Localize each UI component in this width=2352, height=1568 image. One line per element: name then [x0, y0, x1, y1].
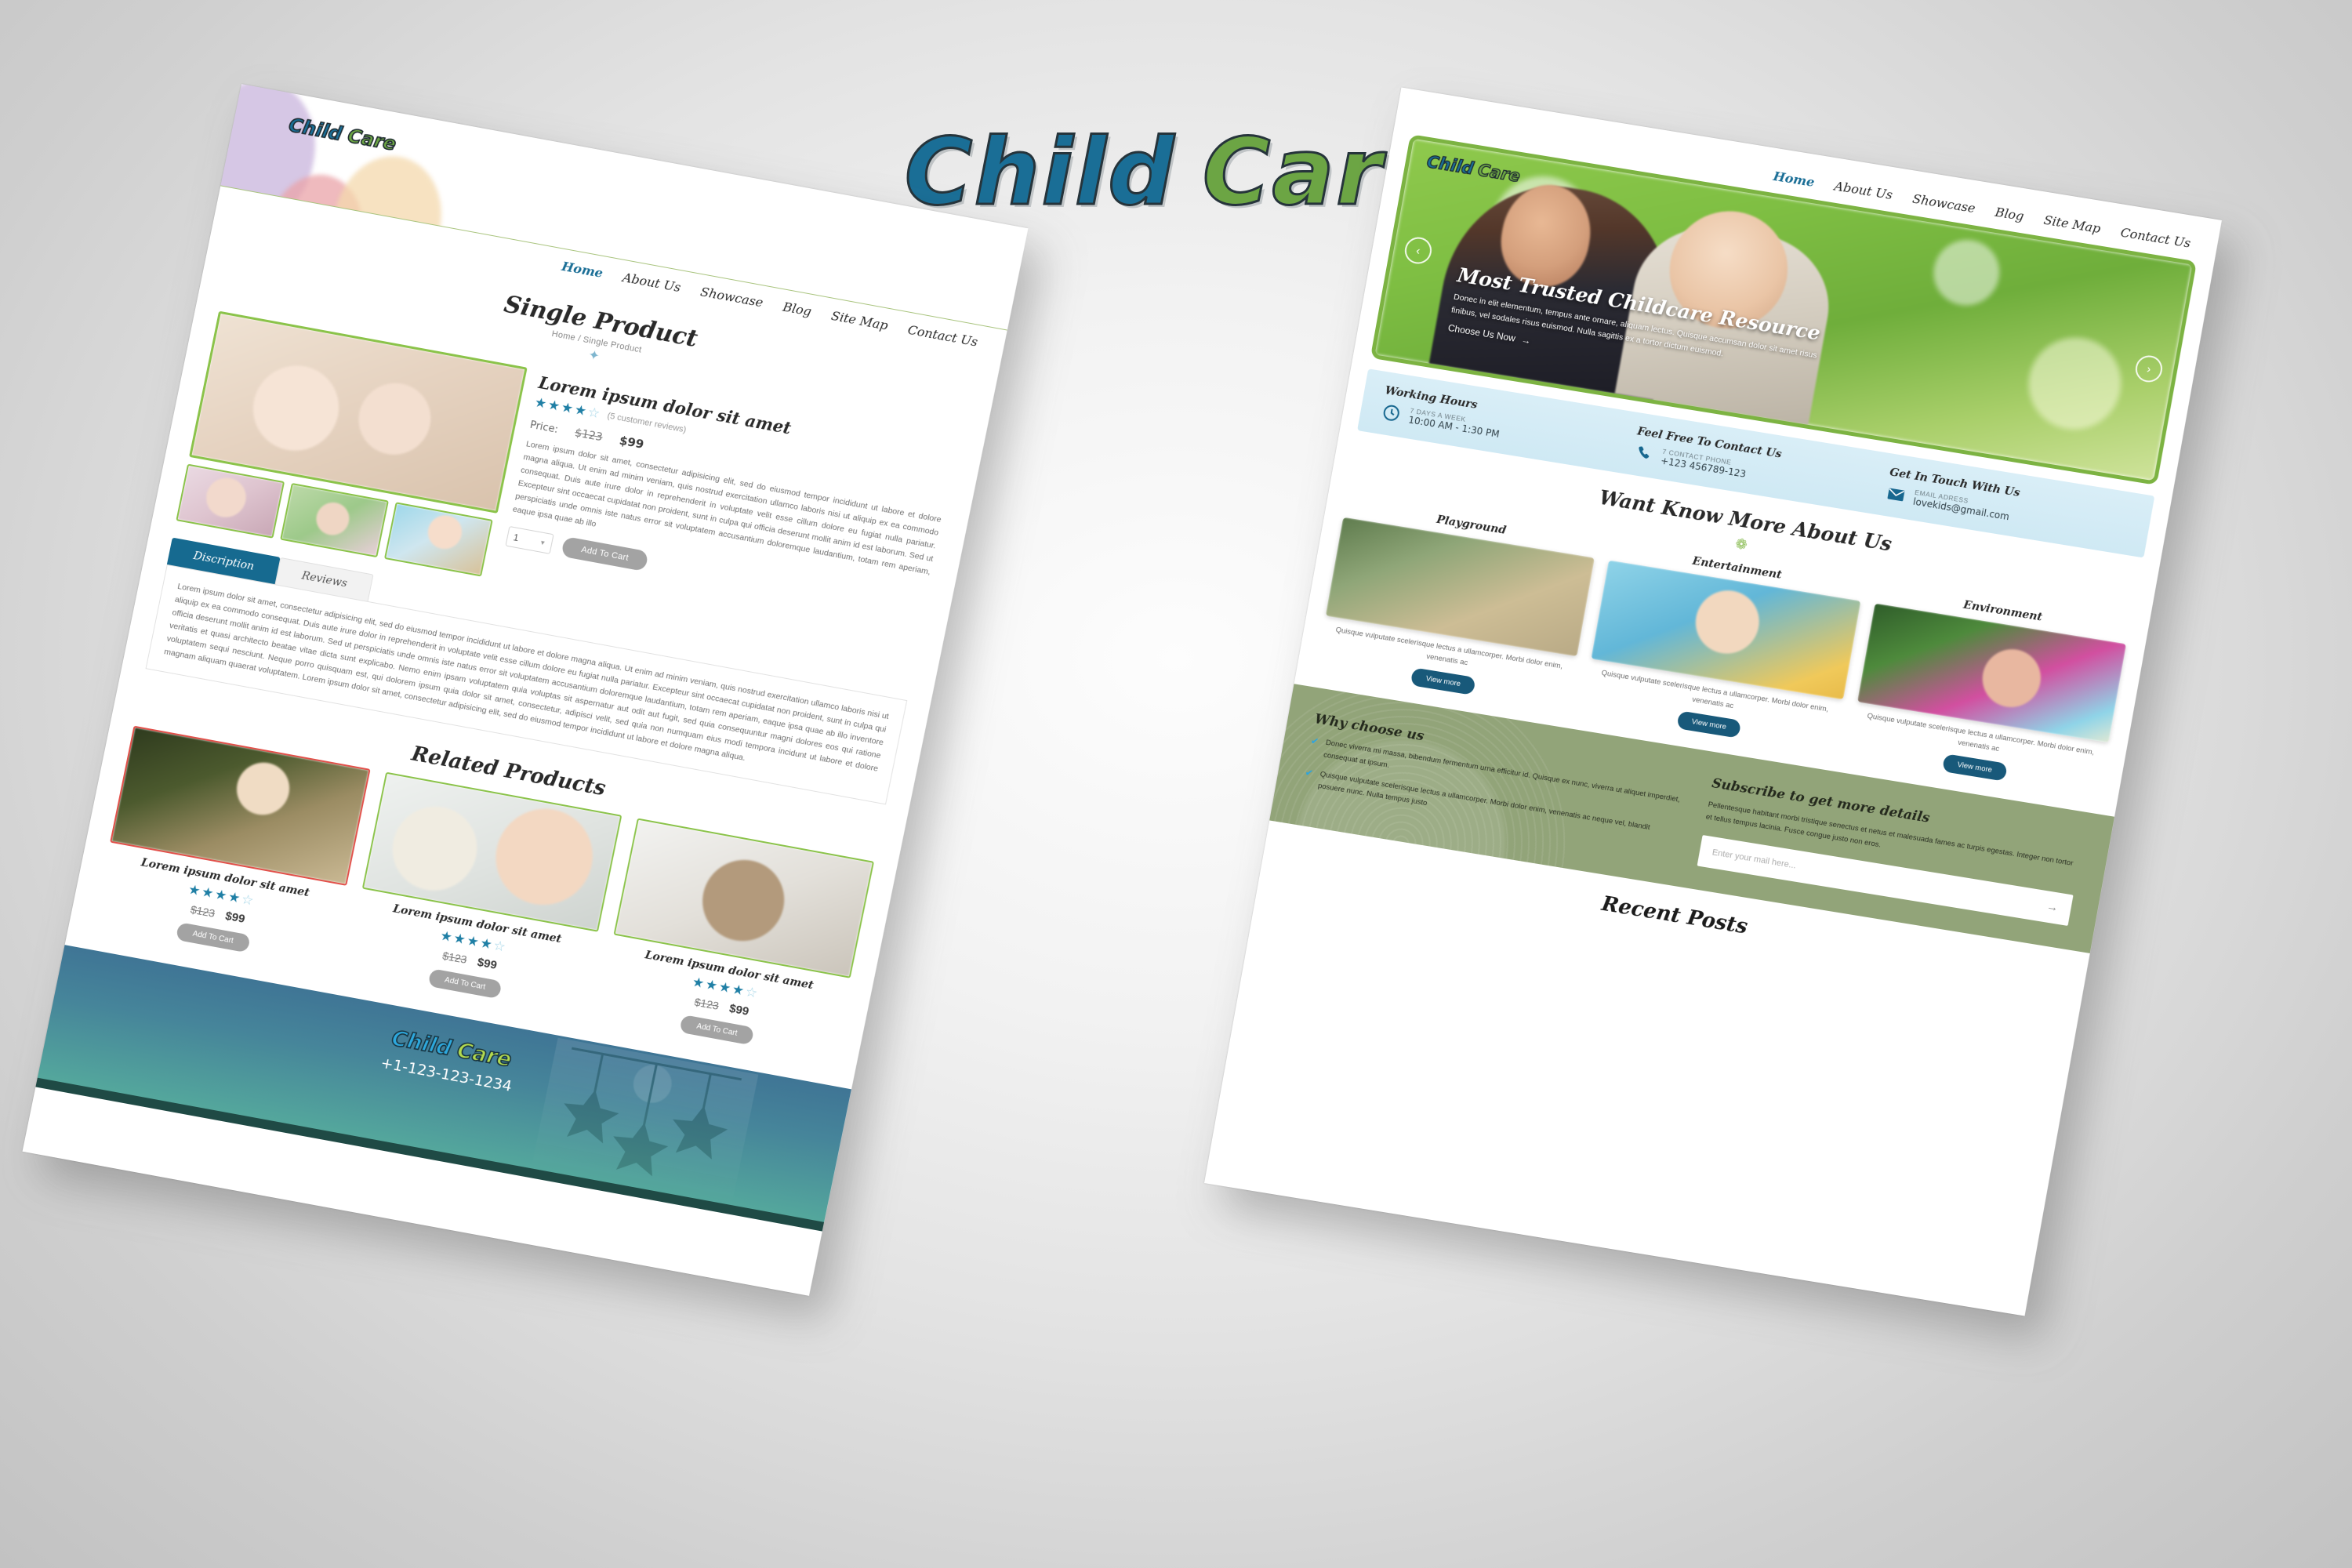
footer-logo-word-child: Child [390, 1026, 454, 1061]
new-price: $99 [728, 1002, 750, 1018]
nav-item-about-us[interactable]: About Us [1833, 179, 1893, 203]
arrow-right-icon[interactable]: → [2045, 900, 2060, 915]
envelope-icon [1884, 483, 1907, 506]
nav-item-home[interactable]: Home [561, 259, 604, 281]
know-card-entertainment: Entertainment Quisque vulputate sceleris… [1581, 542, 1864, 754]
phone-icon [1632, 442, 1655, 466]
nav-item-blog[interactable]: Blog [782, 299, 813, 319]
old-price: $123 [574, 426, 604, 444]
title-word-child: Child [905, 118, 1176, 226]
product-thumbnail[interactable] [176, 464, 285, 539]
add-to-cart-button[interactable]: Add To Cart [176, 922, 251, 953]
price-label: Price: [529, 419, 560, 436]
contact-phone: Feel Free To Contact Us 7 CONTACT PHONE … [1632, 425, 1880, 501]
subscribe-placeholder: Enter your mail here... [1711, 848, 1797, 870]
contact-working-hours: Working Hours 7 DAYS A WEEK 10:00 AM - 1… [1380, 384, 1628, 460]
mockup-page-left: ChildCare Home About Us Showcase Blog Si… [23, 84, 1029, 1296]
related-product-card[interactable]: Lorem ipsum dolor sit amet ★★★★☆ $123 $9… [345, 772, 622, 1014]
new-price: $99 [224, 909, 246, 926]
old-price: $123 [190, 903, 216, 920]
quantity-value: 1 [512, 532, 519, 543]
nav-item-contact-us[interactable]: Contact Us [2119, 225, 2192, 251]
chevron-down-icon: ▼ [539, 539, 546, 546]
quantity-stepper[interactable]: 1 ▼ [505, 526, 554, 554]
add-to-cart-button[interactable]: Add To Cart [427, 968, 503, 999]
old-price: $123 [693, 996, 720, 1012]
nav-item-contact-us[interactable]: Contact Us [906, 322, 979, 350]
contact-email: Get In Touch With Us EMAIL ADRESS loveki… [1884, 466, 2132, 542]
footer-logo-word-care: Care [455, 1038, 514, 1072]
check-icon: ✔ [1302, 767, 1314, 791]
nav-item-home[interactable]: Home [1772, 169, 1816, 190]
view-more-button[interactable]: View more [1676, 711, 1742, 739]
nav-item-site-map[interactable]: Site Map [830, 308, 890, 333]
arrow-right-icon: → [1520, 334, 1531, 347]
nav-item-blog[interactable]: Blog [1994, 205, 2025, 224]
view-more-button[interactable]: View more [1942, 754, 2008, 782]
know-card-playground: Playground Quisque vulputate scelerisque… [1316, 499, 1599, 711]
nav-item-showcase[interactable]: Showcase [1911, 191, 1976, 216]
clock-icon [1380, 401, 1403, 425]
nav-item-about-us[interactable]: About Us [621, 270, 682, 295]
mockup-page-right: Home About Us Showcase Blog Site Map Con… [1204, 87, 2222, 1316]
nav-item-showcase[interactable]: Showcase [699, 284, 764, 310]
new-price: $99 [476, 956, 498, 972]
view-more-button[interactable]: View more [1410, 668, 1476, 696]
related-product-card[interactable]: Lorem ipsum dolor sit amet ★★★★☆ $123 $9… [597, 818, 874, 1061]
related-product-card[interactable]: Lorem ipsum dolor sit amet ★★★★☆ $123 $9… [93, 726, 371, 968]
new-price: $99 [618, 434, 644, 452]
add-to-cart-button[interactable]: Add To Cart [680, 1014, 755, 1045]
product-thumbnail[interactable] [280, 483, 389, 557]
nav-item-site-map[interactable]: Site Map [2042, 212, 2102, 236]
product-thumbnail[interactable] [384, 502, 493, 576]
check-icon: ✔ [1308, 735, 1319, 760]
add-to-cart-button[interactable]: Add To Cart [561, 536, 649, 572]
know-card-environment: Environment Quisque vulputate scelerisqu… [1847, 585, 2130, 797]
old-price: $123 [441, 949, 468, 966]
